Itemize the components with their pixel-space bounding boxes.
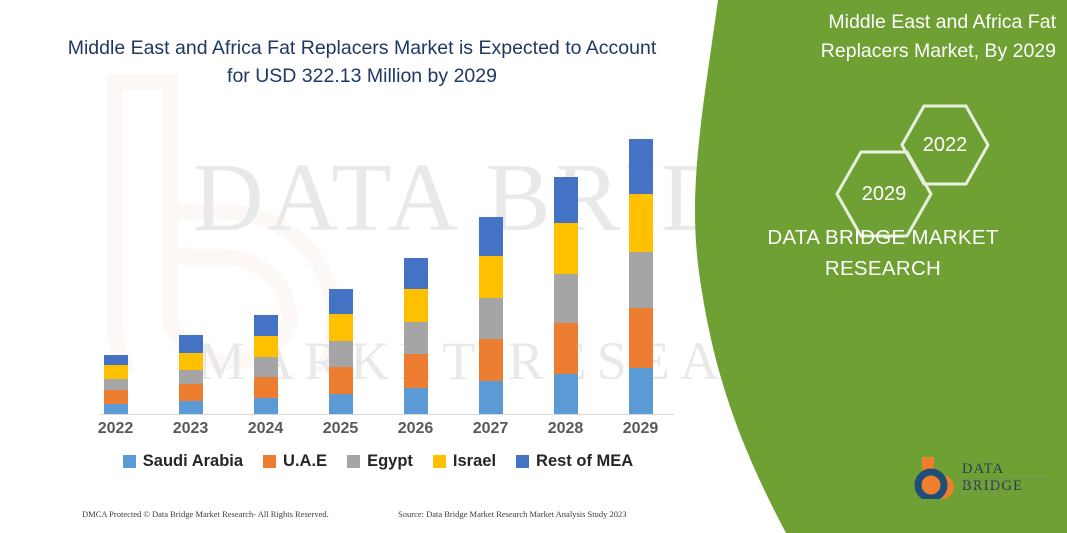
bar-segment-egypt-2026 xyxy=(404,322,428,354)
bar-column-2023 xyxy=(153,110,228,415)
bar-segment-u-a-e-2024 xyxy=(254,377,278,398)
legend-item-u-a-e[interactable]: U.A.E xyxy=(263,452,327,471)
bar-segment-rest-of-mea-2028 xyxy=(554,177,578,223)
bar-segment-israel-2026 xyxy=(404,289,428,322)
stacked-bar xyxy=(179,335,203,415)
bar-segment-rest-of-mea-2025 xyxy=(329,289,353,314)
legend-swatch-icon xyxy=(123,455,136,468)
legend-item-saudi-arabia[interactable]: Saudi Arabia xyxy=(123,452,243,471)
bar-segment-egypt-2022 xyxy=(104,379,128,390)
logo-subtitle: MARKET RESEARCH xyxy=(962,481,1052,497)
bar-segment-rest-of-mea-2023 xyxy=(179,335,203,353)
legend-label: Rest of MEA xyxy=(536,452,633,471)
bar-column-2022 xyxy=(78,110,153,415)
bar-segment-israel-2022 xyxy=(104,365,128,379)
x-axis-label-2025: 2025 xyxy=(303,420,378,438)
bar-segment-saudi-arabia-2025 xyxy=(329,394,353,415)
x-axis-labels: 20222023202420252026202720282029 xyxy=(78,420,678,438)
data-bridge-logo: DATA BRIDGE MARKET RESEARCH xyxy=(912,455,1052,503)
bar-segment-israel-2029 xyxy=(629,194,653,252)
footer-copyright: DMCA Protected © Data Bridge Market Rese… xyxy=(82,509,329,519)
x-axis-label-2029: 2029 xyxy=(603,420,678,438)
x-axis-label-2023: 2023 xyxy=(153,420,228,438)
bar-segment-israel-2028 xyxy=(554,223,578,274)
bar-column-2026 xyxy=(378,110,453,415)
legend-swatch-icon xyxy=(263,455,276,468)
bar-segment-saudi-arabia-2024 xyxy=(254,398,278,415)
bar-segment-u-a-e-2022 xyxy=(104,390,128,404)
bar-segment-egypt-2029 xyxy=(629,252,653,308)
x-axis-label-2024: 2024 xyxy=(228,420,303,438)
bar-segment-rest-of-mea-2026 xyxy=(404,258,428,289)
bar-segment-saudi-arabia-2027 xyxy=(479,381,503,415)
logo-divider xyxy=(962,478,1048,479)
bar-segment-israel-2025 xyxy=(329,314,353,341)
infographic-canvas: DATA BRIDGE MARKET RESEARCH Middle East … xyxy=(0,0,1067,533)
bar-segment-saudi-arabia-2029 xyxy=(629,368,653,415)
legend-label: Israel xyxy=(453,452,496,471)
stacked-bar xyxy=(479,217,503,415)
bar-segment-saudi-arabia-2026 xyxy=(404,388,428,415)
bar-segment-israel-2027 xyxy=(479,256,503,298)
bar-segment-u-a-e-2028 xyxy=(554,323,578,374)
bar-segment-u-a-e-2027 xyxy=(479,339,503,381)
bar-column-2027 xyxy=(453,110,528,415)
bar-segment-rest-of-mea-2027 xyxy=(479,217,503,256)
legend-label: U.A.E xyxy=(283,452,327,471)
panel-brand-line2: RESEARCH xyxy=(718,253,1048,284)
stacked-bar xyxy=(254,315,278,415)
bar-segment-u-a-e-2026 xyxy=(404,354,428,388)
bar-segment-egypt-2027 xyxy=(479,298,503,339)
panel-brand-line1: DATA BRIDGE MARKET xyxy=(718,222,1048,253)
stacked-bar xyxy=(329,289,353,415)
bar-segment-saudi-arabia-2028 xyxy=(554,374,578,415)
footer: DMCA Protected © Data Bridge Market Rese… xyxy=(0,505,700,529)
chart-legend: Saudi ArabiaU.A.EEgyptIsraelRest of MEA xyxy=(78,452,678,471)
stacked-bar xyxy=(104,355,128,415)
bar-segment-egypt-2024 xyxy=(254,357,278,377)
bar-segment-egypt-2028 xyxy=(554,274,578,323)
stacked-bar xyxy=(554,177,578,415)
stacked-bar xyxy=(404,258,428,415)
bar-segment-saudi-arabia-2023 xyxy=(179,401,203,415)
bar-group xyxy=(78,110,678,415)
panel-title: Middle East and Africa Fat Replacers Mar… xyxy=(738,8,1056,66)
legend-item-israel[interactable]: Israel xyxy=(433,452,496,471)
bar-segment-rest-of-mea-2029 xyxy=(629,139,653,194)
x-axis-label-2028: 2028 xyxy=(528,420,603,438)
bar-chart xyxy=(78,110,678,415)
bar-segment-u-a-e-2029 xyxy=(629,308,653,368)
legend-swatch-icon xyxy=(347,455,360,468)
hexagon-group: 2022 2029 xyxy=(700,100,1067,220)
chart-title: Middle East and Africa Fat Replacers Mar… xyxy=(62,34,662,90)
x-axis-label-2026: 2026 xyxy=(378,420,453,438)
bar-segment-egypt-2025 xyxy=(329,341,353,367)
panel-brand: DATA BRIDGE MARKET RESEARCH xyxy=(718,222,1048,284)
legend-item-egypt[interactable]: Egypt xyxy=(347,452,413,471)
footer-source: Source: Data Bridge Market Research Mark… xyxy=(398,509,627,519)
bar-segment-egypt-2023 xyxy=(179,370,203,384)
legend-label: Egypt xyxy=(367,452,413,471)
x-axis-line xyxy=(100,414,674,415)
x-axis-label-2022: 2022 xyxy=(78,420,153,438)
bar-segment-rest-of-mea-2024 xyxy=(254,315,278,336)
bar-column-2024 xyxy=(228,110,303,415)
panel-content: Middle East and Africa Fat Replacers Mar… xyxy=(700,0,1067,533)
bar-segment-u-a-e-2025 xyxy=(329,367,353,394)
bar-segment-israel-2023 xyxy=(179,353,203,370)
legend-item-rest-of-mea[interactable]: Rest of MEA xyxy=(516,452,633,471)
legend-swatch-icon xyxy=(433,455,446,468)
legend-label: Saudi Arabia xyxy=(143,452,243,471)
bar-segment-rest-of-mea-2022 xyxy=(104,355,128,365)
bar-segment-u-a-e-2023 xyxy=(179,384,203,401)
data-bridge-b-icon xyxy=(912,455,960,499)
legend-swatch-icon xyxy=(516,455,529,468)
bar-column-2025 xyxy=(303,110,378,415)
bar-segment-israel-2024 xyxy=(254,336,278,357)
bar-column-2028 xyxy=(528,110,603,415)
hexagon-2029-label: 2029 xyxy=(862,183,907,206)
bar-column-2029 xyxy=(603,110,678,415)
x-axis-label-2027: 2027 xyxy=(453,420,528,438)
stacked-bar xyxy=(629,139,653,415)
